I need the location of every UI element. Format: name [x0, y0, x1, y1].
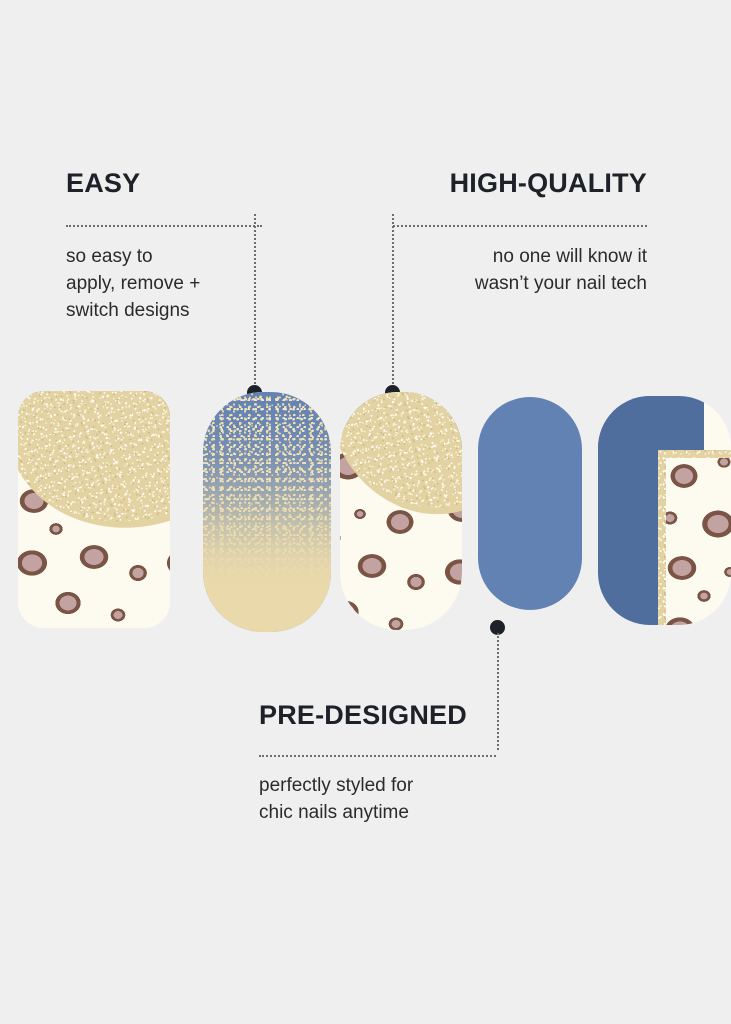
feature-body-easy: so easy to apply, remove + switch design…	[66, 244, 262, 325]
feature-divider-easy	[66, 225, 262, 227]
solid-blue-fill	[478, 397, 582, 610]
leopard-panel	[666, 458, 731, 625]
feature-block-easy: EASY so easy to apply, remove + switch d…	[66, 170, 262, 325]
feature-divider-high-quality	[393, 225, 647, 227]
nail-strip-leopard-with-blue-diagonal-tip	[18, 391, 170, 628]
blue-top-cap	[598, 396, 704, 450]
gold-glitter-vertical-border	[658, 450, 666, 625]
feature-divider-pre-designed	[259, 755, 496, 757]
nail-strip-solid-blue	[478, 397, 582, 610]
connector-line-high-quality	[392, 214, 394, 388]
feature-title-high-quality: HIGH-QUALITY	[393, 170, 647, 197]
feature-body-high-quality: no one will know it wasn’t your nail tec…	[393, 244, 647, 298]
gold-glitter-gradient	[203, 392, 331, 632]
leopard-pattern	[666, 458, 731, 625]
feature-body-pre-designed: perfectly styled for chic nails anytime	[259, 773, 496, 827]
feature-block-pre-designed: PRE-DESIGNED perfectly styled for chic n…	[259, 702, 496, 827]
feature-block-high-quality: HIGH-QUALITY no one will know it wasn’t …	[393, 170, 647, 298]
nail-strip-blue-gold-glitter-gradient	[203, 392, 331, 632]
connector-line-easy	[254, 214, 256, 388]
feature-title-easy: EASY	[66, 170, 262, 197]
feature-title-pre-designed: PRE-DESIGNED	[259, 702, 496, 729]
nail-strip-blue-with-leopard-panel	[598, 396, 731, 625]
nail-strip-leopard-with-blue-cap	[340, 392, 462, 630]
gold-glitter-horizontal-border	[658, 450, 731, 458]
infographic-stage: EASY so easy to apply, remove + switch d…	[0, 0, 731, 1024]
connector-line-pre-designed	[497, 633, 499, 750]
